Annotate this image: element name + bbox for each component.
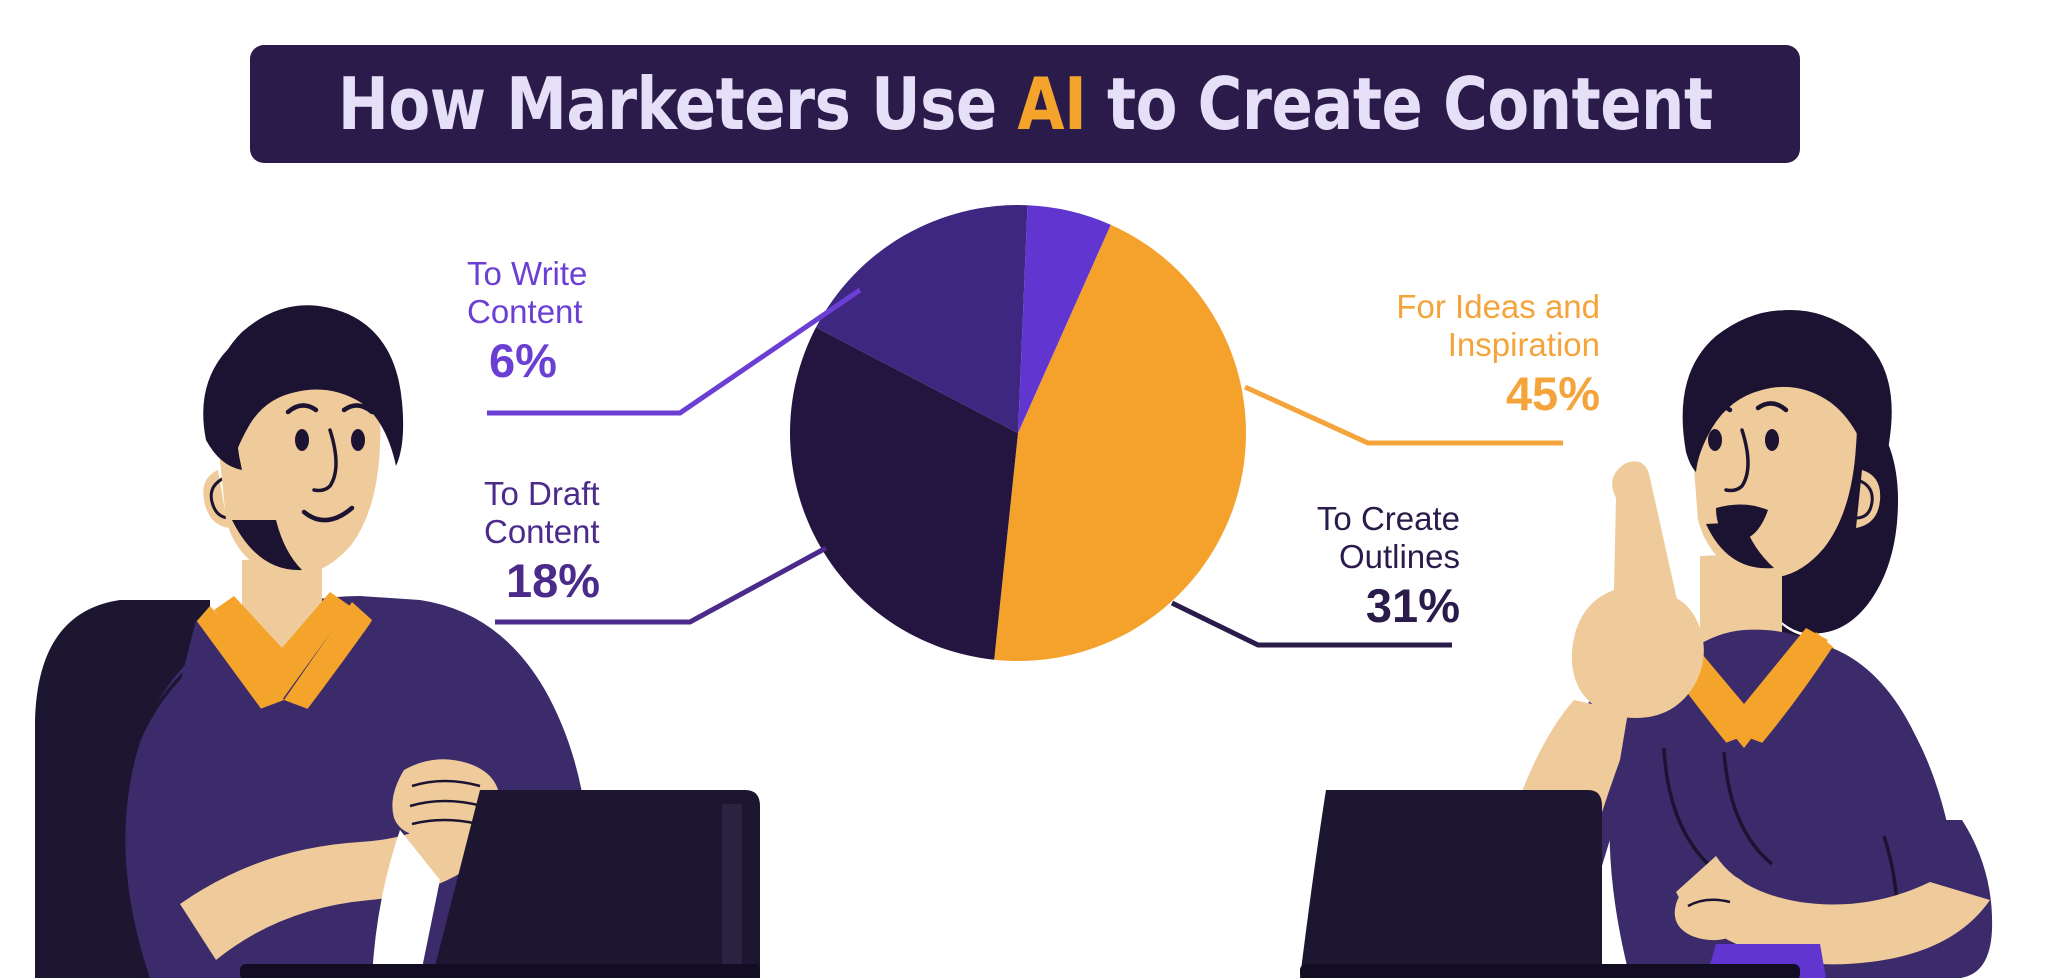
callout-label-line2: Inspiration (1396, 326, 1600, 364)
callout-label-line1: To Write (467, 255, 587, 293)
callout-label-line1: For Ideas and (1396, 288, 1600, 326)
callout-to-write-content: To Write Content 6% (467, 255, 587, 386)
man-laptop-screen (432, 790, 760, 978)
callout-percent: 45% (1396, 369, 1600, 420)
callout-for-ideas-and-inspiration: For Ideas and Inspiration 45% (1396, 288, 1600, 419)
illustration-man-left (35, 305, 760, 978)
page-title: How Marketers Use AI to Create Content (338, 62, 1713, 146)
callout-percent: 6% (467, 336, 587, 387)
title-highlight-ai: AI (1017, 62, 1086, 146)
man-laptop-screen-inner (722, 804, 742, 978)
man-laptop-base (240, 964, 760, 978)
callout-label-line1: To Draft (484, 475, 600, 513)
woman-eye-right (1765, 429, 1779, 451)
title-bar: How Marketers Use AI to Create Content (250, 45, 1800, 163)
woman-eye-left (1708, 429, 1722, 451)
callout-label-line2: Outlines (1317, 538, 1460, 576)
infographic-canvas: How Marketers Use AI to Create Content T… (0, 0, 2048, 978)
woman-laptop-screen (1300, 790, 1602, 978)
callout-percent: 31% (1317, 581, 1460, 632)
callout-label-line2: Content (467, 293, 587, 331)
man-eye-left (295, 429, 309, 451)
callout-label-line1: To Create (1317, 500, 1460, 538)
callout-percent: 18% (484, 556, 600, 607)
callout-to-create-outlines: To Create Outlines 31% (1317, 500, 1460, 631)
callout-to-draft-content: To Draft Content 18% (484, 475, 600, 606)
man-eye-right (351, 429, 365, 451)
callout-label-line2: Content (484, 513, 600, 551)
title-prefix: How Marketers Use (338, 62, 1018, 146)
woman-laptop-base (1300, 964, 1800, 978)
title-suffix: to Create Content (1086, 62, 1712, 146)
